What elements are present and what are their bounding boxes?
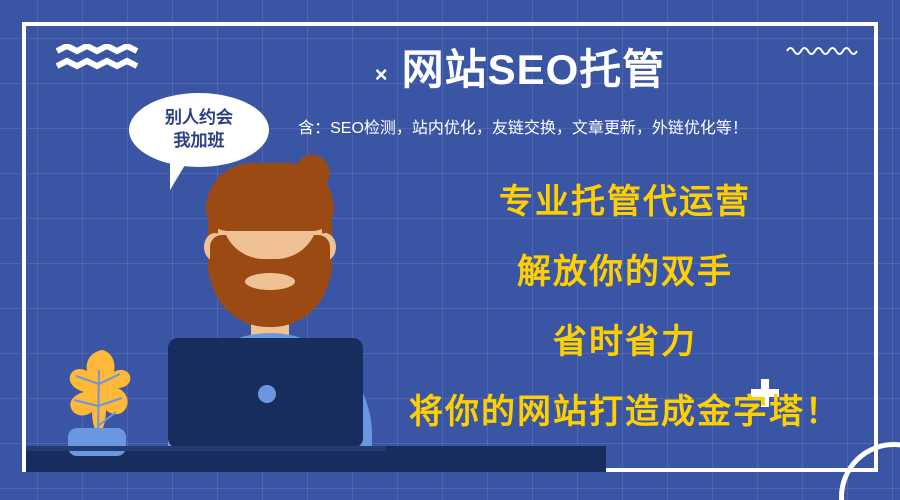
speech-bubble-line-2: 我加班 (174, 130, 225, 153)
desk-edge-highlight (26, 446, 386, 451)
laptop-logo-icon (258, 385, 276, 403)
speech-bubble-line-1: 别人约会 (165, 107, 233, 130)
speech-bubble: 别人约会 我加班 (129, 93, 269, 167)
wavy-line-icon (786, 43, 858, 57)
wave-lines-icon (55, 44, 139, 74)
mouth-shape (245, 273, 295, 290)
page-title-text: 网站SEO托管 (402, 46, 666, 94)
selling-point-1: 专业托管代运营 (390, 185, 860, 219)
page-title: × 网站SEO托管 (330, 46, 710, 94)
plant-leaf-shape (58, 348, 148, 440)
selling-point-2: 解放你的双手 (390, 255, 860, 289)
headline-block: × 网站SEO托管 (330, 46, 710, 94)
selling-point-3: 省时省力 (390, 325, 860, 359)
seo-promo-poster: × 网站SEO托管 含：SEO检测，站内优化，友链交换，文章更新，外链优化等！ … (0, 0, 900, 500)
plant-pot-shape (68, 428, 126, 456)
potted-plant-icon (58, 348, 148, 458)
hair-top-shape (206, 163, 334, 231)
selling-points-list: 专业托管代运营 解放你的双手 省时省力 将你的网站打造成金字塔！ (390, 185, 860, 429)
page-subtitle: 含：SEO检测，站内优化，友链交换，文章更新，外链优化等！ (288, 114, 758, 138)
selling-point-4: 将你的网站打造成金字塔！ (390, 395, 860, 429)
multiply-icon: × (375, 54, 388, 86)
